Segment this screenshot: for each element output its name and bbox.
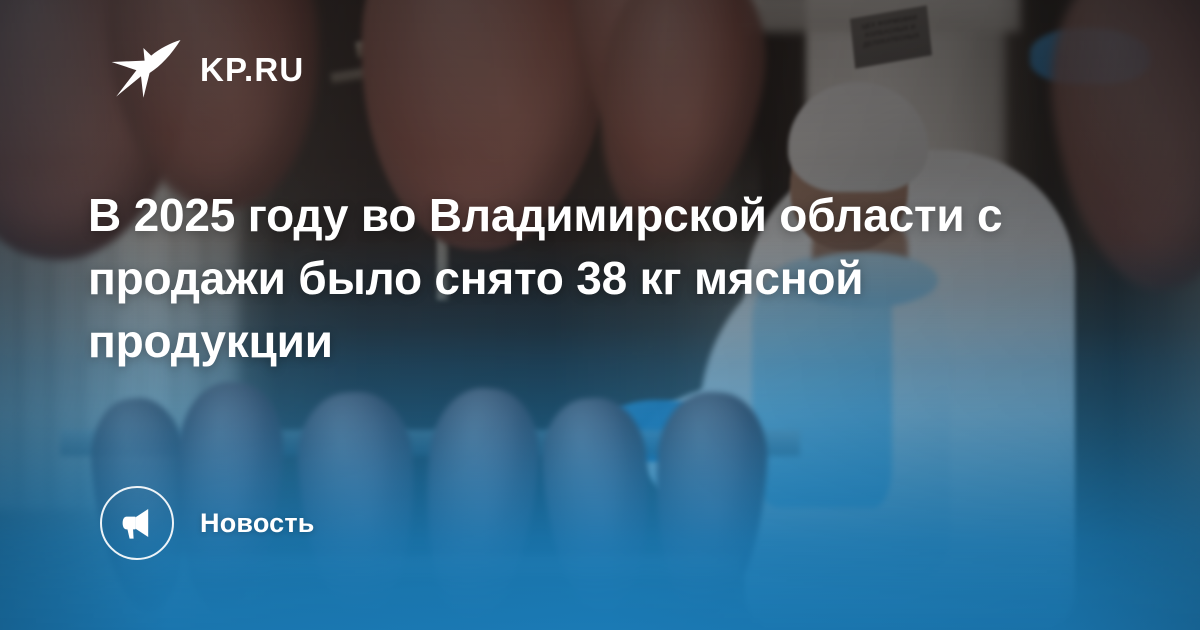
page-title: В 2025 году во Владимирской области с пр… bbox=[88, 184, 1098, 373]
swallow-bird-icon bbox=[110, 38, 182, 100]
status-badge-label: Новость bbox=[200, 508, 315, 539]
brand-logo[interactable]: KP.RU bbox=[110, 38, 304, 100]
card-content: KP.RU В 2025 году во Владимирской област… bbox=[0, 0, 1200, 630]
megaphone-icon bbox=[100, 486, 174, 560]
brand-name: KP.RU bbox=[200, 53, 304, 86]
news-share-card: ЦЕХ ФОРМОВКИ КОЛБАСНЫХ И ДЕЛИКАТЕСНЫХ bbox=[0, 0, 1200, 630]
status-badge[interactable]: Новость bbox=[100, 486, 315, 560]
